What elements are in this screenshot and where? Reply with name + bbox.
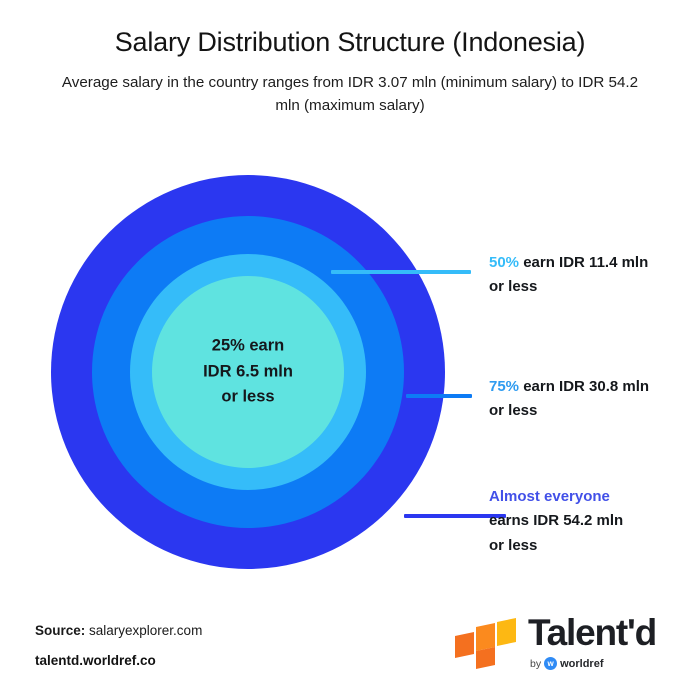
callout-50-accent: 50%	[489, 254, 519, 271]
callout-50-percent: 50% earn IDR 11.4 mln or less	[489, 251, 700, 300]
callout-almost-everyone: Almost everyone earns IDR 54.2 mln or le…	[489, 485, 700, 558]
center-label: 25% earn IDR 6.5 mln or less	[158, 334, 338, 411]
callout-50-rest: earn IDR 11.4 mln	[519, 254, 648, 271]
worldref-badge-icon: w	[544, 657, 557, 670]
source-label: Source:	[35, 623, 85, 638]
callout-75-rest: earn IDR 30.8 mln	[519, 378, 649, 395]
talentd-logo-mark-icon	[452, 614, 524, 670]
center-label-line-3: or less	[158, 385, 338, 411]
callout-75-line-2: or less	[489, 399, 700, 423]
source-value: salaryexplorer.com	[85, 623, 202, 638]
chart-subtitle: Average salary in the country ranges fro…	[50, 58, 650, 118]
page-title: Salary Distribution Structure (Indonesia…	[0, 0, 700, 58]
callout-all-line-3: or less	[489, 534, 700, 558]
callout-75-line-1: 75% earn IDR 30.8 mln	[489, 375, 700, 399]
callout-75-accent: 75%	[489, 378, 519, 395]
connector-line-50	[331, 270, 471, 274]
worldref-name: worldref	[560, 658, 603, 670]
site-url: talentd.worldref.co	[35, 653, 156, 668]
byline-by-text: by	[530, 658, 541, 670]
callout-all-accent: Almost everyone	[489, 485, 700, 509]
callout-50-line-2: or less	[489, 275, 700, 299]
callout-75-percent: 75% earn IDR 30.8 mln or less	[489, 375, 700, 424]
worldref-byline: by w worldref	[530, 657, 604, 670]
source-attribution: Source: salaryexplorer.com	[35, 623, 202, 638]
talentd-logo[interactable]: Talent'd by w worldref	[452, 612, 682, 676]
connector-line-75	[406, 394, 472, 398]
callout-all-line-2: earns IDR 54.2 mln	[489, 509, 700, 533]
center-label-line-2: IDR 6.5 mln	[158, 359, 338, 385]
center-label-line-1: 25% earn	[158, 334, 338, 360]
chart-header: Salary Distribution Structure (Indonesia…	[0, 0, 700, 118]
callout-50-line-1: 50% earn IDR 11.4 mln	[489, 251, 700, 275]
talentd-wordmark: Talent'd	[528, 612, 656, 655]
nested-circles-chart: 25% earn IDR 6.5 mln or less	[51, 175, 445, 569]
